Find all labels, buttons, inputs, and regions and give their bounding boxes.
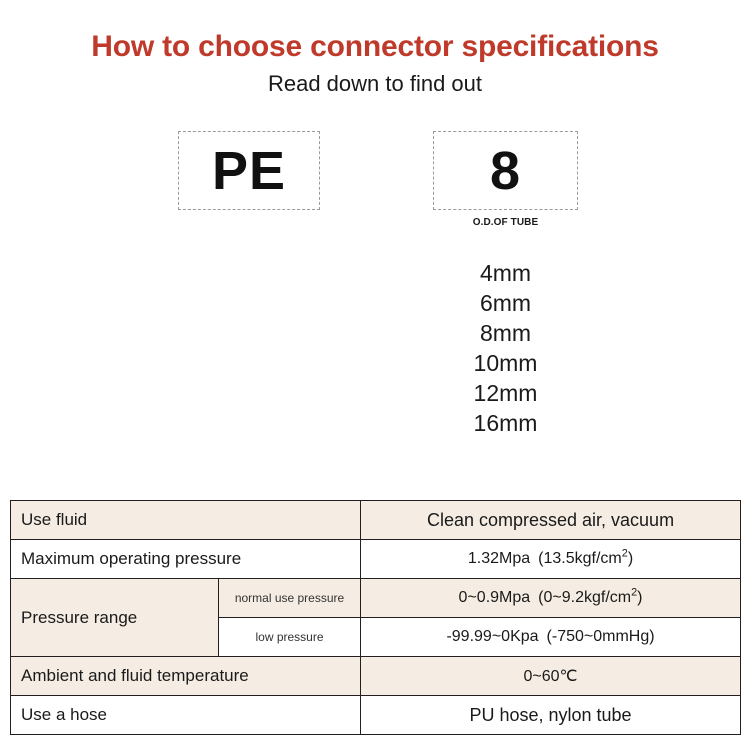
row-value: 0~60℃	[361, 657, 741, 696]
row-label: Use a hose	[11, 696, 361, 735]
row-label: Use fluid	[11, 501, 361, 540]
size-option[interactable]: 10mm	[433, 348, 578, 378]
row-value-tail: )	[637, 589, 642, 606]
page-header: How to choose connector specifications R…	[0, 0, 750, 96]
table-row: Use a hose PU hose, nylon tube	[11, 696, 741, 735]
row-label: Pressure range	[11, 579, 219, 657]
series-code-value: PE	[212, 144, 286, 198]
size-option[interactable]: 4mm	[433, 258, 578, 288]
series-code-box[interactable]: PE	[178, 131, 320, 210]
table-row: Use fluid Clean compressed air, vacuum	[11, 501, 741, 540]
table-row: Ambient and fluid temperature 0~60℃	[11, 657, 741, 696]
table-row: Maximum operating pressure 1.32Mpa (13.5…	[11, 540, 741, 579]
size-option[interactable]: 8mm	[433, 318, 578, 348]
row-value-text: 0~0.9Mpa (0~9.2kgf/cm	[459, 589, 632, 606]
row-label: Ambient and fluid temperature	[11, 657, 361, 696]
tube-size-box[interactable]: 8	[433, 131, 578, 210]
size-option[interactable]: 12mm	[433, 378, 578, 408]
spec-picker: PE 8 O.D.OF TUBE	[0, 131, 750, 251]
table-row: Pressure range normal use pressure 0~0.9…	[11, 579, 741, 618]
size-option[interactable]: 6mm	[433, 288, 578, 318]
size-option[interactable]: 16mm	[433, 408, 578, 438]
row-value-text: 1.32Mpa (13.5kgf/cm	[468, 550, 622, 567]
page-title: How to choose connector specifications	[0, 0, 750, 63]
tube-size-option-list: 4mm 6mm 8mm 10mm 12mm 16mm	[433, 258, 578, 438]
row-label: Maximum operating pressure	[11, 540, 361, 579]
page-subtitle: Read down to find out	[0, 63, 750, 96]
row-value: -99.99~0Kpa (-750~0mmHg)	[361, 618, 741, 657]
row-sub-label: low pressure	[219, 618, 361, 657]
tube-size-caption: O.D.OF TUBE	[433, 217, 578, 228]
row-value: PU hose, nylon tube	[361, 696, 741, 735]
specification-table: Use fluid Clean compressed air, vacuum M…	[10, 500, 741, 735]
row-value: 0~0.9Mpa (0~9.2kgf/cm2)	[361, 579, 741, 618]
row-value-tail: )	[628, 550, 633, 567]
row-value: Clean compressed air, vacuum	[361, 501, 741, 540]
row-sub-label: normal use pressure	[219, 579, 361, 618]
tube-size-value: 8	[490, 144, 521, 198]
row-value: 1.32Mpa (13.5kgf/cm2)	[361, 540, 741, 579]
